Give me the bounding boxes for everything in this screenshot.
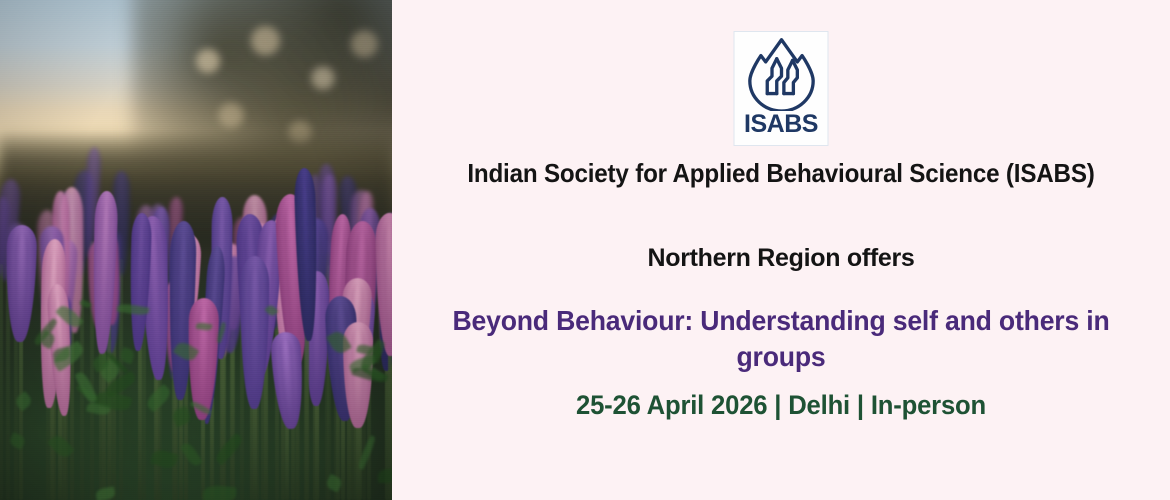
flower-stem (305, 315, 309, 500)
flower-stem (0, 264, 3, 500)
isabs-logo: ISABS (734, 31, 829, 146)
flower-stem (19, 324, 23, 500)
foliage-leaf (203, 485, 237, 500)
flower-stem (264, 351, 268, 500)
event-promo-banner: ISABS Indian Society for Applied Behavio… (0, 0, 1170, 500)
flower-stem (220, 334, 224, 500)
foliage-leaf (377, 468, 392, 483)
region-offers-line: Northern Region offers (392, 244, 1170, 273)
event-details: 25-26 April 2026 | Delhi | In-person (411, 390, 1150, 421)
flower-stem (230, 338, 234, 500)
lupine-field-photo (0, 0, 392, 500)
organization-name: Indian Society for Applied Behavioural S… (419, 158, 1143, 189)
program-title: Beyond Behaviour: Understanding self and… (411, 303, 1150, 375)
flower-stem (138, 330, 142, 500)
content-panel: ISABS Indian Society for Applied Behavio… (392, 0, 1170, 500)
isabs-droplet-figures-icon (741, 35, 821, 111)
isabs-wordmark: ISABS (744, 112, 818, 137)
